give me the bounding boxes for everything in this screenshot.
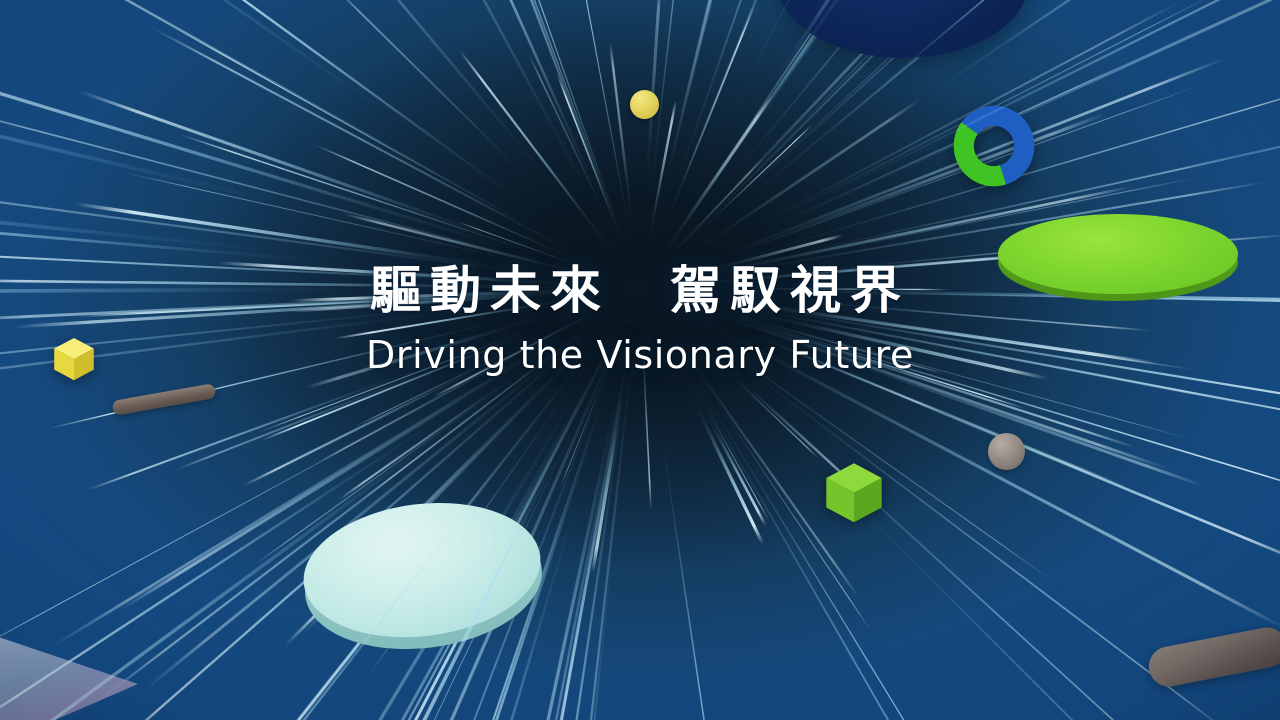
- cyan-disc-shape: [296, 490, 550, 666]
- grey-sphere-shape: [988, 433, 1025, 470]
- title-card-scene: 驅動未來 駕馭視界 Driving the Visionary Future: [0, 0, 1280, 720]
- prism-shape: [0, 612, 142, 720]
- title-block: 驅動未來 駕馭視界 Driving the Visionary Future: [0, 262, 1280, 377]
- headline-chinese: 驅動未來 駕馭視界: [0, 262, 1280, 319]
- yellow-sphere-shape: [630, 90, 659, 119]
- donut-ring-shape: [952, 104, 1036, 188]
- headline-english: Driving the Visionary Future: [0, 335, 1280, 377]
- green-cube-shape: [823, 462, 885, 526]
